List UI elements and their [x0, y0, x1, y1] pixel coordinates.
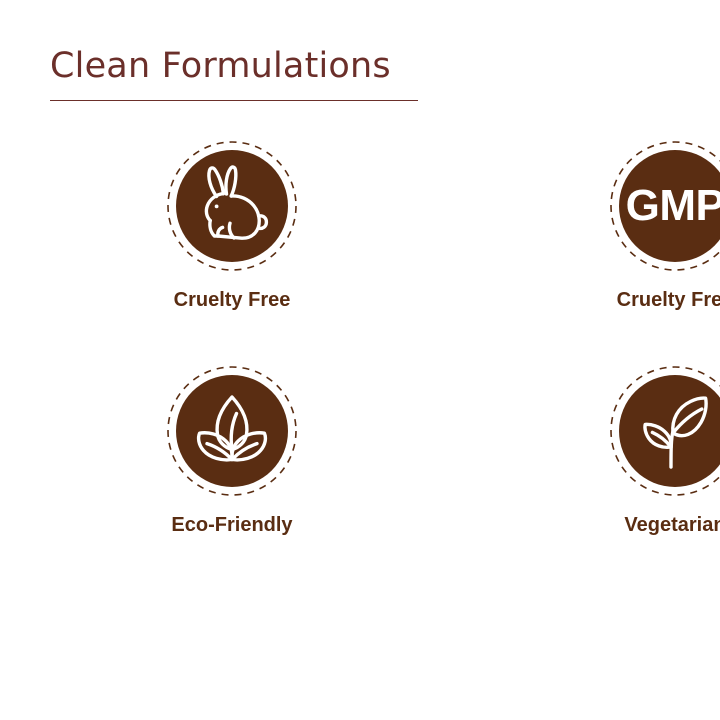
- title-underline-rule: [50, 100, 418, 101]
- badge-label: Cruelty Free: [174, 288, 291, 312]
- badge-disc: [166, 365, 298, 497]
- badge-grid: Cruelty Free GMP Cruelty Free: [0, 140, 720, 590]
- rabbit-icon: [176, 150, 288, 262]
- badge-label: Eco-Friendly: [171, 513, 292, 537]
- page-title: Clean Formulations: [50, 46, 470, 87]
- badge-disc: GMP: [609, 140, 720, 272]
- badge-item-vegetarian[interactable]: Vegetarian: [360, 365, 720, 590]
- badge-label: Cruelty Free: [617, 288, 720, 312]
- header: Clean Formulations: [50, 46, 470, 101]
- three-leaf-icon: [176, 375, 288, 487]
- badge-item-eco-friendly[interactable]: Eco-Friendly: [0, 365, 360, 590]
- badge-item-cruelty-free[interactable]: Cruelty Free: [0, 140, 360, 365]
- sprout-icon: [619, 375, 720, 487]
- gmp-label: GMP: [626, 184, 720, 228]
- clean-formulations-panel: Clean Formulations: [0, 0, 720, 720]
- badge-disc: [609, 365, 720, 497]
- badge-disc: [166, 140, 298, 272]
- gmp-icon: GMP: [619, 150, 720, 262]
- badge-item-gmp[interactable]: GMP Cruelty Free: [360, 140, 720, 365]
- badge-label: Vegetarian: [624, 513, 720, 537]
